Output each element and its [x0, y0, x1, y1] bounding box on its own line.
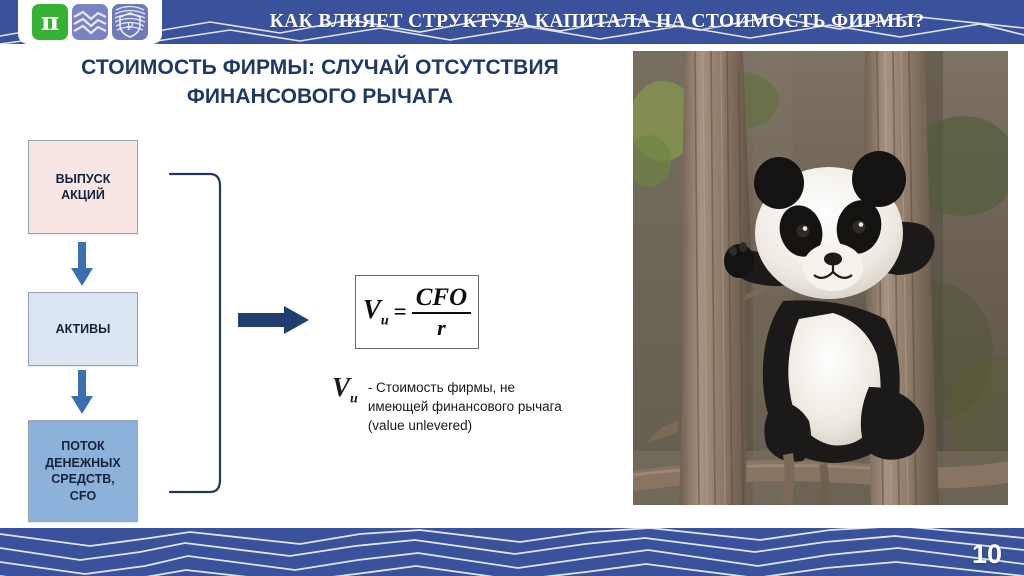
shield-ruble-icon: ₽ [112, 4, 148, 40]
pi-tile-icon: π [32, 4, 68, 40]
flow-box-assets: АКТИВЫ [28, 292, 138, 366]
flow-box-line: СРЕДСТВ, [51, 471, 114, 488]
page-title: СТОИМОСТЬ ФИРМЫ: СЛУЧАЙ ОТСУТСТВИЯ ФИНАН… [30, 54, 610, 111]
formula-equals: = [394, 299, 407, 325]
legend-line: (value unlevered) [368, 418, 472, 433]
brand-logo[interactable]: π [18, 0, 162, 44]
waves-icon [72, 4, 108, 40]
formula-numerator: CFO [412, 285, 471, 312]
formula-box: Vu = CFO r [355, 275, 479, 349]
down-arrow-icon [70, 242, 94, 288]
formula-fraction: CFO r [412, 285, 471, 339]
legend-symbol: Vu [332, 372, 358, 406]
flow-box-line: ПОТОК [61, 438, 104, 455]
result-arrow-icon [238, 305, 310, 335]
legend-symbol-letter: V [332, 372, 350, 402]
footer-band: 10 [0, 528, 1024, 576]
legend-line: - Стоимость фирмы, не [368, 380, 515, 395]
flow-box-cash-flow: ПОТОК ДЕНЕЖНЫХ СРЕДСТВ, CFO [28, 420, 138, 522]
formula-lhs-symbol: V [363, 294, 381, 324]
flow-box-line: АКТИВЫ [56, 321, 111, 338]
legend-symbol-subscript: u [350, 391, 358, 406]
pi-glyph: π [41, 9, 59, 34]
flow-box-line: АКЦИЙ [61, 187, 105, 204]
svg-text:₽: ₽ [127, 20, 134, 33]
slide: π [0, 0, 1024, 576]
grouping-bracket [168, 172, 224, 494]
formula-lhs-subscript: u [381, 313, 389, 328]
footer-zigzag-decoration [0, 528, 1024, 576]
legend-line: имеющей финансового рычага [368, 399, 562, 414]
down-arrow-icon [70, 370, 94, 416]
formula-legend: Vu - Стоимость фирмы, не имеющей финансо… [332, 372, 642, 435]
flow-box-line: CFO [70, 488, 96, 505]
flow-box-share-issue: ВЫПУСК АКЦИЙ [28, 140, 138, 234]
header-title: КАК ВЛИЯЕТ СТРУКТУРА КАПИТАЛА НА СТОИМОС… [170, 0, 1024, 44]
panda-photo-illustration [633, 51, 1008, 505]
shield-ruble-tile-icon: ₽ [112, 4, 148, 40]
flow-box-line: ВЫПУСК [56, 171, 111, 188]
formula-denominator: r [437, 314, 446, 339]
page-number: 10 [972, 539, 1002, 570]
panda-photo [633, 51, 1008, 505]
waves-tile-icon [72, 4, 108, 40]
formula-lhs: Vu [363, 296, 389, 328]
legend-text: - Стоимость фирмы, не имеющей финансовог… [368, 372, 562, 435]
header-band: π [0, 0, 1024, 44]
page-title-text: СТОИМОСТЬ ФИРМЫ: СЛУЧАЙ ОТСУТСТВИЯ ФИНАН… [81, 56, 559, 108]
flow-box-line: ДЕНЕЖНЫХ [45, 455, 121, 472]
